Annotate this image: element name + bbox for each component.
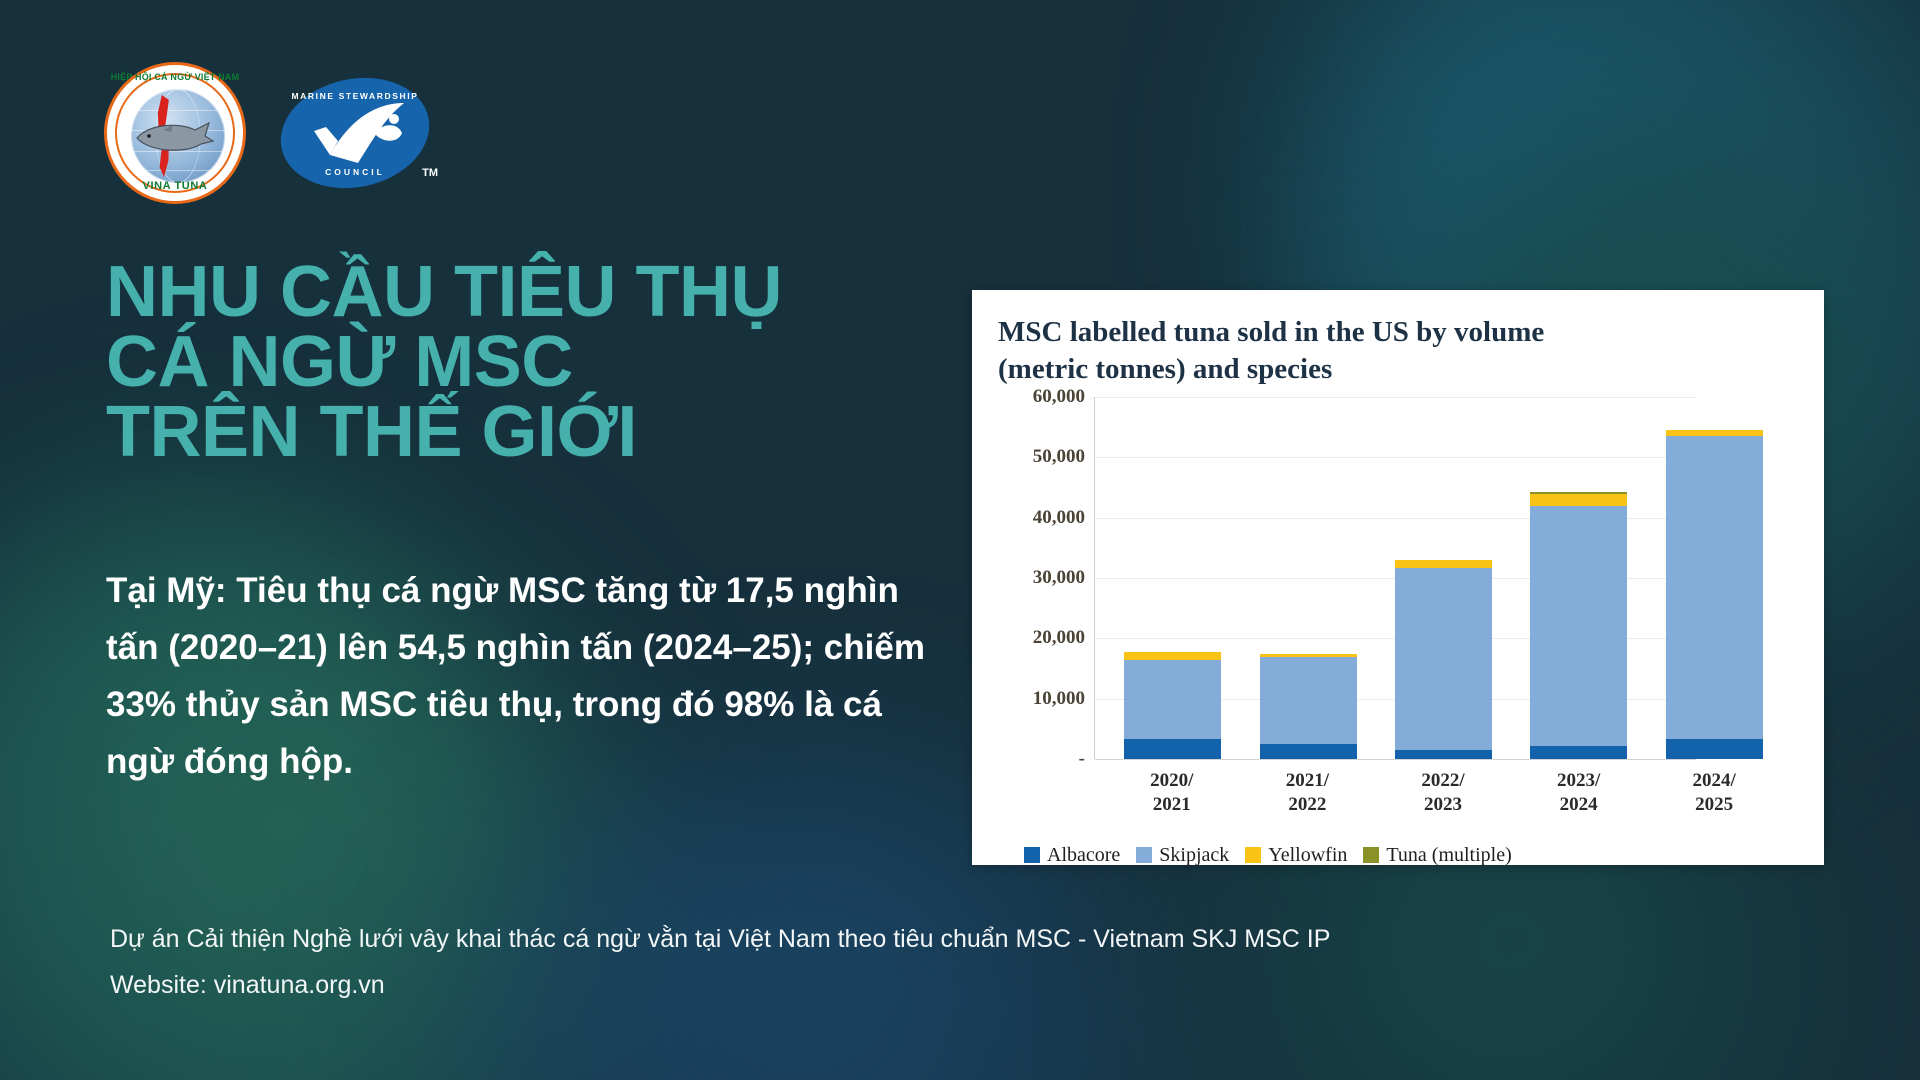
bar-column[interactable] <box>1530 492 1627 759</box>
x-axis: 2020/20212021/20222022/20232023/20242024… <box>1094 759 1792 818</box>
legend-swatch-icon <box>1363 847 1379 863</box>
bar-column[interactable] <box>1395 560 1492 759</box>
msc-logo: MARINE STEWARDSHIP COUNCIL TM <box>280 79 430 187</box>
logo-row: HIỆP HỘI CÁ NGỪ VIỆT NAM VINA TUNA MARIN… <box>104 62 430 204</box>
bar-segment-albacore <box>1260 744 1357 759</box>
legend-label: Skipjack <box>1159 844 1229 867</box>
x-tick-label-line: 2023 <box>1394 793 1491 817</box>
legend-swatch-icon <box>1245 847 1261 863</box>
gridline <box>1095 759 1696 760</box>
vinatuna-top-text: HIỆP HỘI CÁ NGỪ VIỆT NAM <box>107 72 243 82</box>
y-tick-label: 10,000 <box>999 688 1085 710</box>
legend-item[interactable]: Tuna (multiple) <box>1363 844 1511 867</box>
bar-column[interactable] <box>1124 652 1221 759</box>
chart-plot-area: 60,00050,00040,00030,00020,00010,000- <box>1094 397 1792 759</box>
bar-column[interactable] <box>1666 430 1763 759</box>
x-tick-label-line: 2020/ <box>1123 769 1220 793</box>
chart-title-line-1: MSC labelled tuna sold in the US by volu… <box>998 314 1798 351</box>
chart-title-line-2: (metric tonnes) and species <box>998 351 1798 388</box>
bar-segment-skipjack <box>1260 657 1357 744</box>
chart-title: MSC labelled tuna sold in the US by volu… <box>998 314 1798 387</box>
bar-segment-skipjack <box>1530 506 1627 747</box>
legend-item[interactable]: Yellowfin <box>1245 844 1347 867</box>
y-tick-label: 40,000 <box>999 507 1085 529</box>
bar-segment-yellowfin <box>1395 560 1492 568</box>
legend-item[interactable]: Albacore <box>1024 844 1120 867</box>
x-tick-label-line: 2021 <box>1123 793 1220 817</box>
chart-legend: AlbacoreSkipjackYellowfinTuna (multiple) <box>1024 844 1798 867</box>
x-tick-label: 2022/2023 <box>1394 769 1491 818</box>
y-tick-label: - <box>999 748 1085 770</box>
msc-trademark: TM <box>422 167 438 179</box>
y-tick-label: 50,000 <box>999 446 1085 468</box>
bar-segment-skipjack <box>1124 660 1221 739</box>
x-tick-label-line: 2022 <box>1259 793 1356 817</box>
headline-line-2: CÁ NGỪ MSC <box>106 328 936 398</box>
bar-segment-albacore <box>1395 750 1492 759</box>
legend-item[interactable]: Skipjack <box>1136 844 1229 867</box>
bar-segment-albacore <box>1666 739 1763 759</box>
body-paragraph: Tại Mỹ: Tiêu thụ cá ngừ MSC tăng từ 17,5… <box>106 562 946 790</box>
legend-label: Tuna (multiple) <box>1386 844 1511 867</box>
bar-group <box>1095 397 1792 759</box>
poster-canvas: HIỆP HỘI CÁ NGỪ VIỆT NAM VINA TUNA MARIN… <box>0 0 1920 1080</box>
bar-segment-albacore <box>1124 739 1221 759</box>
x-tick-label: 2024/2025 <box>1666 769 1763 818</box>
y-tick-label: 60,000 <box>999 386 1085 408</box>
legend-label: Albacore <box>1047 844 1120 867</box>
bar-segment-yellowfin <box>1124 652 1221 660</box>
x-tick-label: 2021/2022 <box>1259 769 1356 818</box>
x-tick-label-line: 2022/ <box>1394 769 1491 793</box>
vinatuna-bottom-text: VINA TUNA <box>107 180 243 192</box>
x-tick-label: 2023/2024 <box>1530 769 1627 818</box>
tuna-fish-icon <box>133 121 219 155</box>
x-tick-label: 2020/2021 <box>1123 769 1220 818</box>
x-tick-label-line: 2021/ <box>1259 769 1356 793</box>
x-tick-label-line: 2025 <box>1666 793 1763 817</box>
footer-project-line: Dự án Cải thiện Nghề lưới vây khai thác … <box>110 916 1330 962</box>
footer-website-line: Website: vinatuna.org.vn <box>110 962 1330 1008</box>
legend-label: Yellowfin <box>1268 844 1347 867</box>
bar-segment-albacore <box>1530 746 1627 759</box>
y-tick-label: 30,000 <box>999 567 1085 589</box>
page-title: NHU CẦU TIÊU THỤ CÁ NGỪ MSC TRÊN THẾ GIỚ… <box>106 258 936 467</box>
footer: Dự án Cải thiện Nghề lưới vây khai thác … <box>110 916 1330 1009</box>
headline-line-3: TRÊN THẾ GIỚI <box>106 398 936 468</box>
legend-swatch-icon <box>1136 847 1152 863</box>
headline-line-1: NHU CẦU TIÊU THỤ <box>106 258 936 328</box>
bar-segment-yellowfin <box>1530 494 1627 506</box>
chart-card: MSC labelled tuna sold in the US by volu… <box>972 290 1824 865</box>
legend-swatch-icon <box>1024 847 1040 863</box>
bar-column[interactable] <box>1260 654 1357 759</box>
x-tick-label-line: 2024/ <box>1666 769 1763 793</box>
bar-segment-skipjack <box>1666 436 1763 739</box>
msc-bottom-text: COUNCIL <box>280 167 430 177</box>
y-tick-label: 20,000 <box>999 627 1085 649</box>
x-tick-label-line: 2023/ <box>1530 769 1627 793</box>
vinatuna-logo: HIỆP HỘI CÁ NGỪ VIỆT NAM VINA TUNA <box>104 62 246 204</box>
bar-segment-skipjack <box>1395 568 1492 750</box>
msc-top-text: MARINE STEWARDSHIP <box>280 91 430 101</box>
x-tick-label-line: 2024 <box>1530 793 1627 817</box>
